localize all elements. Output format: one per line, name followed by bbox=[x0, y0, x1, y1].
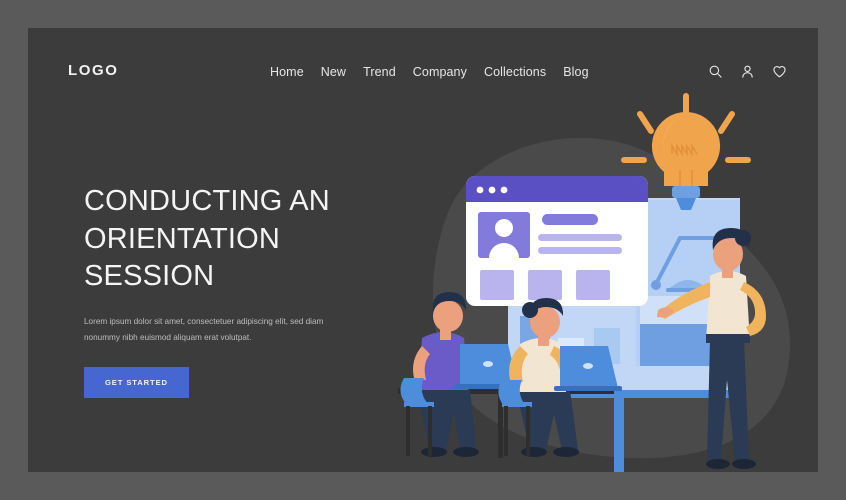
card-thumb-2 bbox=[528, 270, 562, 300]
search-icon[interactable] bbox=[708, 64, 723, 79]
browser-card bbox=[466, 176, 648, 306]
user-icon[interactable] bbox=[740, 64, 755, 79]
card-line-2 bbox=[538, 247, 622, 254]
browser-dot-green bbox=[501, 187, 508, 194]
card-title-pill bbox=[542, 214, 598, 225]
hero-panel: LOGO Home New Trend Company Collections … bbox=[28, 28, 818, 472]
heart-icon[interactable] bbox=[772, 64, 787, 79]
hero-copy: CONDUCTING AN ORIENTATION SESSION Lorem … bbox=[84, 183, 414, 398]
nav-item-collections[interactable]: Collections bbox=[484, 65, 546, 79]
hero-subcopy: Lorem ipsum dolor sit amet, consectetuer… bbox=[84, 314, 324, 347]
browser-dot-yellow bbox=[489, 187, 496, 194]
browser-dot-red bbox=[477, 187, 484, 194]
card-line-1 bbox=[538, 234, 622, 241]
card-thumb-3 bbox=[576, 270, 610, 300]
nav-item-blog[interactable]: Blog bbox=[563, 65, 588, 79]
brand-logo[interactable]: LOGO bbox=[68, 62, 119, 79]
nav-item-new[interactable]: New bbox=[321, 65, 346, 79]
page-root: LOGO Home New Trend Company Collections … bbox=[0, 0, 846, 500]
card-thumb-1 bbox=[480, 270, 514, 300]
hero-headline: CONDUCTING AN ORIENTATION SESSION bbox=[84, 183, 414, 296]
card-avatar bbox=[478, 212, 530, 258]
navbar-actions bbox=[708, 64, 787, 79]
get-started-button[interactable]: GET STARTED bbox=[84, 367, 189, 398]
nav-item-company[interactable]: Company bbox=[413, 65, 467, 79]
nav-item-trend[interactable]: Trend bbox=[363, 65, 396, 79]
orientation-session-illustration bbox=[388, 88, 808, 472]
nav-item-home[interactable]: Home bbox=[270, 65, 304, 79]
primary-navigation: Home New Trend Company Collections Blog bbox=[270, 65, 589, 79]
